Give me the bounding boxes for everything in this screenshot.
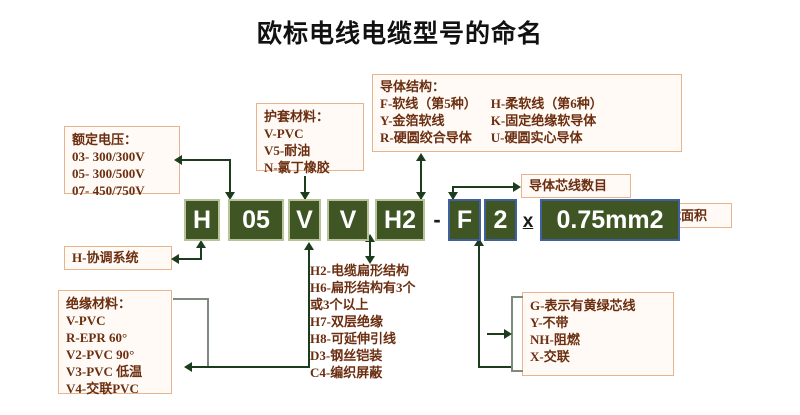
- special-marks-box: G-表示有黄绿芯线 Y-不带 NH-阻燃 X-交联: [522, 292, 674, 376]
- rated-voltage-box: 额定电压： 03- 300/300V 05- 300/500V 07- 450/…: [64, 126, 180, 194]
- special-marks-line-2: Y-不带: [530, 314, 666, 331]
- code-chip-2-label: 2: [494, 206, 508, 235]
- code-chip-f-label: F: [457, 206, 472, 235]
- code-chip-v1[interactable]: V: [288, 199, 321, 241]
- connector-insulation-arrow-up: [304, 242, 314, 250]
- special-marks-line-1: G-表示有黄绿芯线: [530, 297, 666, 314]
- rated-voltage-line-1: 03- 300/300V: [72, 148, 172, 165]
- insulation-material-line-3: V2-PVC 90°: [66, 346, 164, 363]
- sheath-material-line-1: V-PVC: [264, 125, 356, 142]
- code-chip-v2[interactable]: V: [327, 199, 369, 241]
- conductor-structure-c1-line-3: R-硬圆绞合导体: [380, 129, 477, 146]
- conductor-structure-box: 导体结构： F-软线（第5种） Y-金箔软线 R-硬圆绞合导体 H-柔软线（第6…: [372, 74, 682, 152]
- cable-structure-line-3: 或3个以上: [310, 296, 444, 313]
- core-count-label-line-1: 导体芯线数目: [529, 177, 623, 194]
- code-chip-h2[interactable]: H2: [375, 199, 425, 241]
- cable-structure-line-1: H2-电缆扁形结构: [310, 262, 444, 279]
- connector-core-count-h: [452, 186, 514, 188]
- code-chip-v1-label: V: [296, 206, 313, 235]
- insulation-material-line-5: V4-交联PVC: [66, 380, 164, 397]
- connector-special-marks-h: [478, 366, 512, 368]
- code-separator-times-label: x: [523, 211, 534, 233]
- code-separator-dash-label: -: [433, 207, 440, 233]
- cable-structure-line-2: H6-扁形结构有3个: [310, 279, 444, 296]
- connector-insulation-arrow-left: [184, 362, 192, 372]
- cable-structure-line-7: C4-编织屏蔽: [310, 364, 444, 381]
- connector-core-count-arrow-right: [513, 182, 521, 192]
- connector-rated-voltage-arrow-left: [174, 155, 182, 165]
- cable-structure-line-4: H7-双层绝缘: [310, 313, 444, 330]
- code-chip-05[interactable]: 05: [228, 199, 284, 241]
- cable-structure-line-6: D3-钢丝铠装: [310, 347, 444, 364]
- connector-rated-voltage-v: [229, 159, 231, 194]
- cable-structure-line-5: H8-可延伸引线: [310, 330, 444, 347]
- insulation-material-box: 绝缘材料： V-PVC R-EPR 60° V2-PVC 90° V3-PVC …: [58, 290, 172, 394]
- conductor-structure-c2-line-3: U-硬圆实心导体: [491, 129, 603, 146]
- special-marks-line-4: X-交联: [530, 348, 666, 365]
- code-chip-h[interactable]: H: [184, 199, 220, 241]
- core-count-label-box: 导体芯线数目: [521, 174, 631, 198]
- cable-structure-box: H2-电缆扁形结构 H6-扁形结构有3个 或3个以上 H7-双层绝缘 H8-可延…: [303, 258, 451, 392]
- insulation-material-header: 绝缘材料：: [66, 295, 164, 312]
- rated-voltage-line-2: 05- 300/500V: [72, 165, 172, 182]
- sheath-material-box: 护套材料： V-PVC V5-耐油 N-氯丁橡胶: [256, 103, 364, 171]
- diagram-canvas: 欧标电线电缆型号的命名 额定电压： 03- 300/300V 05- 300/5…: [0, 0, 800, 415]
- connector-conductor-structure-arrow-up: [416, 153, 426, 161]
- code-chip-h-label: H: [193, 206, 211, 235]
- connector-cable-structure-arrow-down: [365, 256, 375, 264]
- connector-insulation-bracket-v: [207, 298, 209, 368]
- conductor-structure-c2-line-2: K-固定绝缘软导体: [491, 112, 603, 129]
- conductor-structure-c1-line-1: F-软线（第5种）: [380, 95, 477, 112]
- connector-harmonization-arrow-left: [171, 254, 179, 264]
- code-separator-dash: -: [428, 199, 446, 241]
- harmonization-box: H-协调系统: [64, 246, 172, 270]
- connector-special-marks-arrow-right: [504, 329, 512, 339]
- insulation-material-line-2: R-EPR 60°: [66, 329, 164, 346]
- harmonization-line-1: H-协调系统: [72, 249, 164, 266]
- code-chip-f[interactable]: F: [448, 199, 481, 241]
- connector-harmonization-arrow-up: [196, 240, 206, 248]
- code-chip-cross-section[interactable]: 0.75mm2: [540, 199, 680, 241]
- connector-special-marks-bracket-bottom: [511, 370, 523, 372]
- page-title: 欧标电线电缆型号的命名: [0, 14, 800, 50]
- conductor-structure-c2-line-1: H-柔软线（第6种）: [491, 95, 603, 112]
- code-chip-v2-label: V: [340, 206, 357, 235]
- connector-special-marks-v: [478, 244, 480, 366]
- connector-insulation-bracket-top: [173, 298, 209, 300]
- sheath-material-line-3: N-氯丁橡胶: [264, 159, 356, 176]
- code-chip-h2-label: H2: [384, 206, 416, 235]
- sheath-material-header: 护套材料：: [264, 108, 356, 125]
- sheath-material-line-2: V5-耐油: [264, 142, 356, 159]
- code-separator-times: x: [519, 204, 537, 240]
- connector-harmonization-h: [178, 258, 202, 260]
- conductor-structure-header: 导体结构：: [380, 78, 674, 95]
- code-chip-cross-section-label: 0.75mm2: [556, 206, 663, 235]
- special-marks-line-3: NH-阻燃: [530, 331, 666, 348]
- insulation-material-line-1: V-PVC: [66, 312, 164, 329]
- rated-voltage-header: 额定电压：: [72, 131, 172, 148]
- conductor-structure-col-1: F-软线（第5种） Y-金箔软线 R-硬圆绞合导体: [380, 95, 477, 146]
- insulation-material-line-4: V3-PVC 低温: [66, 363, 164, 380]
- rated-voltage-line-3: 07- 450/750V: [72, 182, 172, 199]
- connector-insulation-v: [308, 248, 310, 368]
- connector-special-marks-h2: [487, 333, 505, 335]
- code-chip-2[interactable]: 2: [484, 199, 517, 241]
- conductor-structure-col-2: H-柔软线（第6种） K-固定绝缘软导体 U-硬圆实心导体: [491, 95, 603, 146]
- connector-rated-voltage-h1: [181, 159, 231, 161]
- connector-insulation-h: [190, 366, 310, 368]
- code-chip-05-label: 05: [242, 206, 270, 235]
- conductor-structure-c1-line-2: Y-金箔软线: [380, 112, 477, 129]
